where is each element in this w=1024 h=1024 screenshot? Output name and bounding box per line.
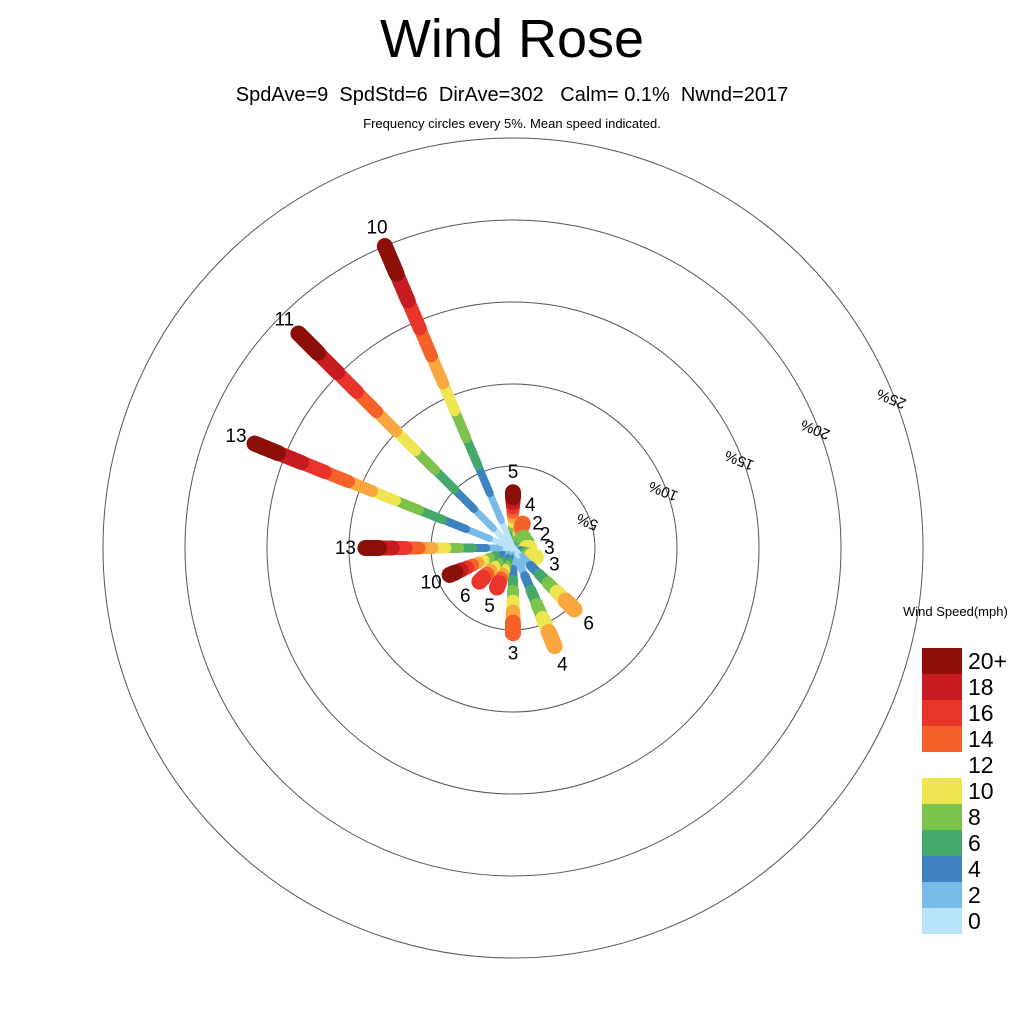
petal-speed-segment	[532, 556, 536, 558]
legend-label: 8	[968, 804, 981, 830]
legend-color-swatch	[922, 804, 962, 830]
petal-speed-segment	[474, 509, 494, 529]
legend-color-swatch	[922, 700, 962, 726]
legend-color-swatch	[922, 726, 962, 752]
petal-speed-segment	[479, 578, 483, 582]
petal-mean-speed-label: 3	[508, 643, 519, 664]
petal-mean-speed-label: 13	[225, 426, 246, 447]
ring-label: 10%	[646, 477, 680, 504]
petal-speed-segment	[255, 444, 278, 453]
legend-color-swatch	[922, 648, 962, 674]
wind-petals	[255, 246, 575, 646]
legend-label: 10	[968, 778, 994, 804]
petal-mean-speed-label: 10	[421, 573, 442, 594]
legend-color-swatch	[922, 830, 962, 856]
legend-label: 2	[968, 882, 981, 908]
petal-mean-speed-label: 5	[484, 596, 495, 617]
legend-color-swatch	[922, 778, 962, 804]
wind-rose-page: Wind Rose SpdAve=9 SpdStd=6 DirAve=302 C…	[0, 0, 1024, 1024]
petal-speed-segment	[566, 601, 575, 610]
ring-labels: 5%10%15%20%25%	[574, 385, 908, 533]
legend-label: 4	[968, 856, 981, 882]
ring-label: 5%	[574, 510, 600, 534]
petal-speed-segment	[450, 572, 456, 574]
legend-label: 14	[968, 726, 994, 752]
legend-color-swatch	[922, 752, 962, 778]
petal-mean-speed-label: 5	[508, 462, 519, 483]
petal-mean-speed-label: 6	[460, 586, 471, 607]
wind-petal	[298, 333, 513, 548]
petal-mean-speed-label: 4	[557, 655, 568, 676]
petal-speed-segment	[549, 632, 555, 646]
petal-mean-speed-label: 3	[549, 555, 560, 576]
legend-title: Wind Speed(mph)	[903, 604, 1008, 619]
legend-label: 0	[968, 908, 981, 934]
petal-mean-speed-label: 6	[583, 614, 594, 635]
petal-speed-segment	[298, 333, 318, 353]
petal-mean-speed-label: 10	[366, 218, 387, 239]
wind-rose-plot: 5%10%15%20%25% 542233643561013131110	[0, 0, 1024, 1024]
petal-speed-segment	[490, 493, 502, 520]
legend-color-swatch	[922, 856, 962, 882]
petal-speed-segment	[522, 524, 523, 527]
petal-mean-speed-label: 13	[335, 538, 356, 559]
petal-speed-segment	[497, 583, 499, 587]
wind-speed-legend[interactable]: 20+181614121086420	[922, 648, 1022, 934]
legend-color-swatch	[922, 674, 962, 700]
legend-color-swatch	[922, 882, 962, 908]
legend-label: 6	[968, 830, 981, 856]
legend-label: 20+	[968, 648, 1007, 674]
legend-label: 16	[968, 700, 994, 726]
legend-color-swatch	[922, 908, 962, 934]
petal-mean-speed-label: 11	[274, 309, 294, 330]
legend-label: 18	[968, 674, 994, 700]
legend-label: 12	[968, 752, 994, 778]
petal-speed-segment	[385, 246, 397, 273]
